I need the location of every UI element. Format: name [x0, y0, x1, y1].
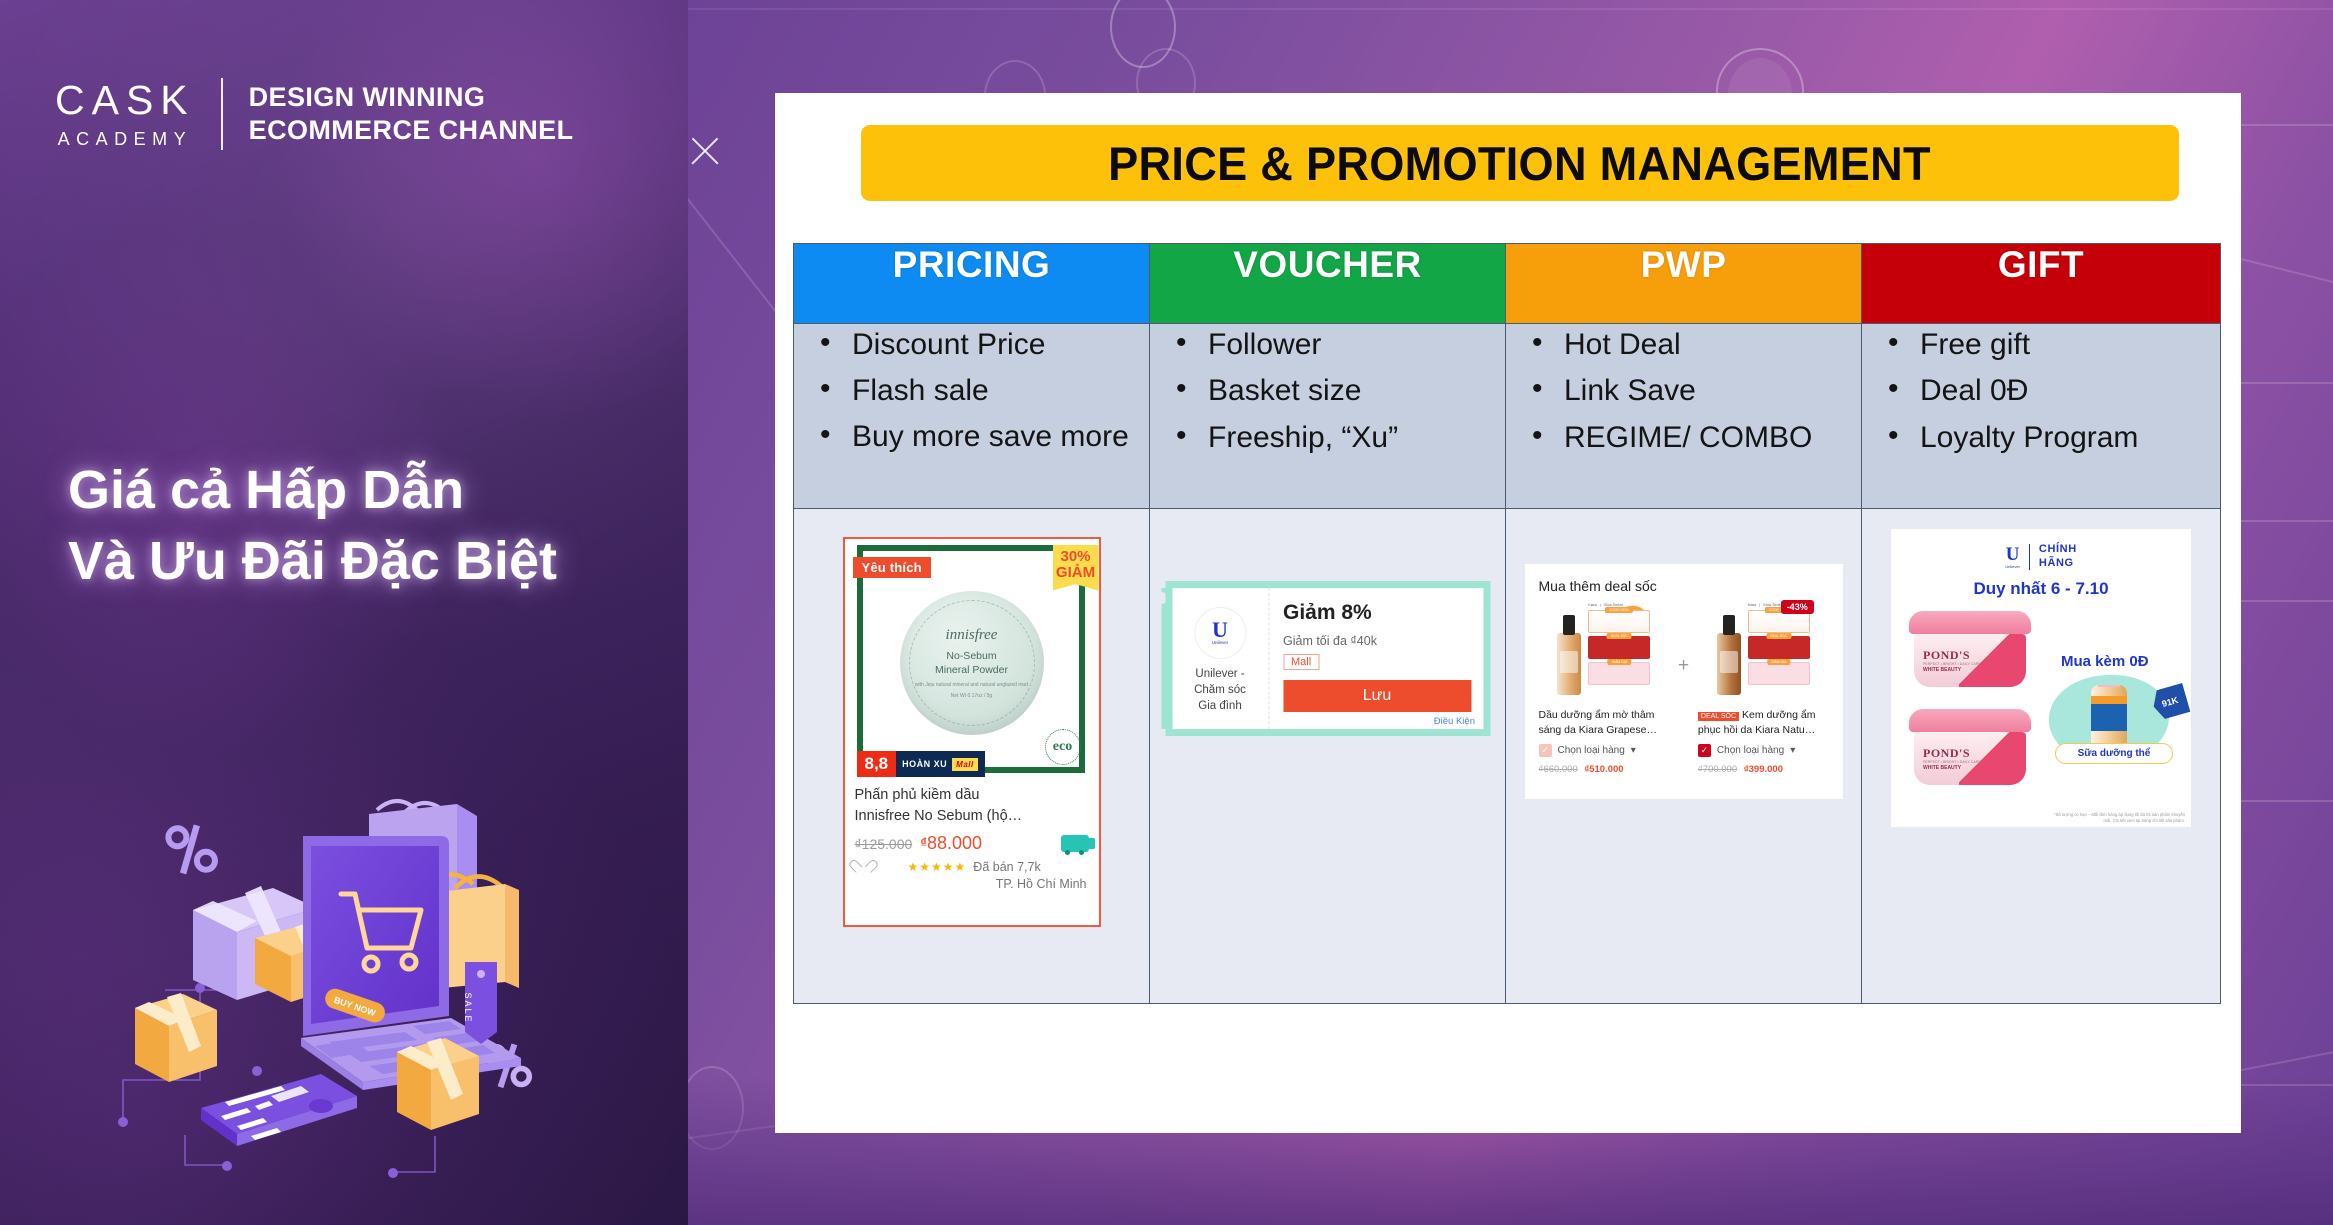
voucher-cap: Giảm tối đa ₫40k — [1283, 634, 1471, 648]
ecommerce-illustration: BUY NOW SALE — [105, 790, 635, 1210]
voucher-details: Giảm 8% Giảm tối đa ₫40k Mall Lưu Điều K… — [1269, 588, 1483, 729]
gift-product-name: Sữa dưỡng thể — [2055, 743, 2173, 764]
table-header-row: PRICING VOUCHER PWP GIFT — [794, 244, 2221, 324]
pwp-title: Mua thêm deal sốc — [1539, 578, 1829, 594]
list-item: Link Save — [1524, 370, 1861, 411]
product-meta-row: ★★★★★ Đã bán 7,7k — [855, 860, 1089, 874]
checkbox-icon[interactable]: ✓ — [1698, 744, 1711, 757]
pwp-poster: Kiara|Glow Series GOOD DEAL DEAL SỐC GIẢ… — [1588, 603, 1650, 695]
package-fine-2: Net Wt 0.17oz / 5g — [951, 693, 992, 699]
list-item: Basket size — [1168, 370, 1505, 411]
fine-print: *Số lượng có hạn – Mỗi đơn hàng áp dụng … — [2045, 812, 2185, 825]
column-header-gift: GIFT — [1862, 244, 2221, 324]
gift-offer-label: Mua kèm 0Đ — [2061, 653, 2149, 670]
decor-line — [688, 8, 2333, 10]
mall-badge: Mall — [952, 758, 978, 771]
brand-tagline: DESIGN WINNING ECOMMERCE CHANNEL — [249, 81, 574, 147]
voucher-card[interactable]: U Unilever Unilever - Chăm sóc Gia đình … — [1165, 581, 1490, 736]
slide-title-banner: PRICE & PROMOTION MANAGEMENT — [861, 125, 2179, 201]
list-item: Flash sale — [812, 370, 1149, 411]
pwp-variant-select[interactable]: ✓ Chọn loại hàng ▾ — [1539, 744, 1670, 757]
product-line: WHITE BEAUTY — [1923, 667, 1961, 674]
product-sub: PERFECT • BRIGHT • DAILY CARE — [1923, 760, 1981, 764]
slide-title: PRICE & PROMOTION MANAGEMENT — [1109, 136, 1932, 191]
price-original: ₫660.000 — [1539, 764, 1578, 775]
price-current: ₫510.000 — [1584, 764, 1623, 775]
ponds-jar-icon: POND'S PERFECT • BRIGHT • DAILY CARE WHI… — [1909, 709, 2031, 785]
package-brand: innisfree — [946, 627, 998, 644]
price-original: ₫700.000 — [1698, 764, 1737, 775]
ponds-jar-icon: POND'S PERFECT • BRIGHT • DAILY CARE WHI… — [1909, 611, 2031, 687]
package-fine-1: with Jeju natural mineral and natural un… — [915, 682, 1028, 689]
list-item: Freeship, “Xu” — [1168, 417, 1505, 458]
close-icon[interactable] — [684, 130, 726, 172]
voucher-conditions-link[interactable]: Điều Kiện — [1434, 716, 1475, 727]
promo-date: Duy nhất 6 - 7.10 — [1891, 579, 2191, 599]
column-header-pricing: PRICING — [794, 244, 1150, 324]
serum-bottle-icon — [1557, 633, 1581, 695]
list-item: Free gift — [1880, 324, 2220, 365]
brand-logo: CASK ACADEMY DESIGN WINNING ECOMMERCE CH… — [55, 78, 573, 150]
tagline-line-1: DESIGN WINNING — [249, 81, 574, 114]
brand-name: CASK — [55, 80, 195, 121]
svg-text:SALE: SALE — [463, 992, 473, 1023]
example-voucher: U Unilever Unilever - Chăm sóc Gia đình … — [1150, 509, 1506, 1004]
score-value: 8,8 — [857, 751, 897, 777]
voucher-brand-section: U Unilever Unilever - Chăm sóc Gia đình — [1172, 588, 1269, 729]
table-bullets-row: Discount Price Flash sale Buy more save … — [794, 324, 2221, 509]
jar-lid — [1909, 709, 2031, 732]
voucher-brand-name: Unilever - Chăm sóc Gia đình — [1194, 666, 1246, 715]
pwp-price-row: ₫660.000 ₫510.000 — [1539, 764, 1670, 775]
brand-subname: ACADEMY — [55, 130, 195, 148]
example-gift: U Unilever CHÍNH HÃNG Duy nhất 6 - 7.10 — [1862, 509, 2221, 1004]
jar-body: POND'S PERFECT • BRIGHT • DAILY CARE WHI… — [1914, 634, 2026, 687]
product-title: Phấn phủ kiềm dầu Innisfree No Sebum (hộ… — [855, 785, 1089, 826]
product-image: Yêu thích 30% GIẢM innisfree No-Sebum Mi… — [845, 539, 1099, 777]
discount-label: GIẢM — [1053, 565, 1099, 581]
rating-stars: ★★★★★ — [908, 860, 967, 874]
cashback-badge: 8,8 HOÀN XU Mall — [857, 751, 985, 777]
pwp-card[interactable]: Mua thêm deal sốc Kiara|Glow Series GOOD… — [1525, 564, 1843, 799]
presentation-slide: PRICE & PROMOTION MANAGEMENT PRICING VOU… — [775, 93, 2241, 1133]
price-original: ₫125.000 — [855, 836, 913, 852]
cashback-strip: HOÀN XU Mall — [896, 751, 985, 777]
cask-wordmark: CASK ACADEMY — [55, 80, 195, 148]
free-gift-section: Mua kèm 0Đ 91K Sữa dưỡng thể — [2039, 653, 2189, 778]
authentic-logo: U Unilever CHÍNH HÃNG — [1891, 543, 2191, 571]
pwp-variant-select[interactable]: ✓ Chọn loại hàng ▾ — [1698, 744, 1829, 757]
header-label: GIFT — [1998, 244, 2084, 285]
unilever-logo-icon: U Unilever — [2005, 545, 2020, 569]
pwp-thumbnail: Kiara|Glow Series GOOD DEAL DEAL SỐC GIẢ… — [1539, 603, 1670, 701]
product-price-row: ₫125.000 ₫88.000 — [855, 833, 1089, 854]
bullets-gift: Free gift Deal 0Đ Loyalty Program — [1862, 324, 2221, 509]
product-sub: PERFECT • BRIGHT • DAILY CARE — [1923, 662, 1981, 666]
header-label: PRICING — [893, 244, 1051, 285]
header-label: VOUCHER — [1233, 244, 1422, 285]
price-current: ₫88.000 — [920, 833, 982, 854]
list-item: Follower — [1168, 324, 1505, 365]
slide-screenshot: CASK ACADEMY DESIGN WINNING ECOMMERCE CH… — [0, 0, 2333, 1225]
product-card[interactable]: Yêu thích 30% GIẢM innisfree No-Sebum Mi… — [843, 537, 1101, 927]
column-header-voucher: VOUCHER — [1150, 244, 1506, 324]
poster-box: GIẢM GIÁ — [1588, 662, 1650, 685]
bullets-pwp: Hot Deal Link Save REGIME/ COMBO — [1506, 324, 1862, 509]
bullets-voucher: Follower Basket size Freeship, “Xu” — [1150, 324, 1506, 509]
poster-box: GIẢM GIÁ — [1748, 662, 1810, 685]
voucher-save-button[interactable]: Lưu — [1283, 680, 1471, 712]
voucher-scallop-edge — [1161, 588, 1172, 729]
pwp-item-name: DEAL SỐCKem dưỡng ẩm phục hồi da Kiara N… — [1698, 708, 1829, 738]
product-brand: POND'S — [1923, 648, 1970, 663]
pwp-items-row: Kiara|Glow Series GOOD DEAL DEAL SỐC GIẢ… — [1539, 603, 1829, 775]
price-current: ₫399.000 — [1744, 764, 1783, 775]
hot-deal-badge: DEAL SỐC — [1698, 712, 1739, 721]
chevron-down-icon: ▾ — [1790, 745, 1795, 756]
gift-card-body: POND'S PERFECT • BRIGHT • DAILY CARE WHI… — [1891, 605, 2191, 823]
bottle-band — [2091, 703, 2127, 731]
product-location: TP. Hồ Chí Minh — [855, 877, 1089, 891]
bullets-pricing: Discount Price Flash sale Buy more save … — [794, 324, 1150, 509]
powder-compact-icon: innisfree No-Sebum Mineral Powder with J… — [900, 591, 1044, 735]
example-pricing: Yêu thích 30% GIẢM innisfree No-Sebum Mi… — [794, 509, 1150, 1004]
discount-pct: 30% — [1053, 549, 1099, 565]
voucher-discount: Giảm 8% — [1283, 601, 1471, 625]
jar-body: POND'S PERFECT • BRIGHT • DAILY CARE WHI… — [1914, 732, 2026, 785]
list-item: Hot Deal — [1524, 324, 1861, 365]
table-images-row: Yêu thích 30% GIẢM innisfree No-Sebum Mi… — [794, 509, 2221, 1004]
pwp-price-row: ₫700.000 ₫399.000 — [1698, 764, 1829, 775]
free-shipping-icon — [1061, 835, 1089, 852]
cashback-label: HOÀN XU — [902, 759, 947, 769]
variant-label: Chọn loại hàng — [1717, 745, 1784, 756]
sold-count: Đã bán 7,7k — [973, 860, 1040, 874]
favorite-badge: Yêu thích — [853, 557, 931, 578]
product-body: Phấn phủ kiềm dầu Innisfree No Sebum (hộ… — [845, 777, 1099, 891]
pwp-thumbnail: -43% Kiara|Glow Series GOOD DEAL DEAL SỐ… — [1698, 603, 1829, 701]
plus-icon: + — [1669, 603, 1698, 677]
serum-bottle-icon — [1717, 633, 1741, 695]
list-item: Discount Price — [812, 324, 1149, 365]
product-brand: POND'S — [1923, 746, 1970, 761]
left-title-panel: CASK ACADEMY DESIGN WINNING ECOMMERCE CH… — [0, 0, 688, 1225]
pwp-item[interactable]: Kiara|Glow Series GOOD DEAL DEAL SỐC GIẢ… — [1539, 603, 1670, 775]
promotion-table: PRICING VOUCHER PWP GIFT Discount Price … — [793, 243, 2221, 1004]
variant-label: Chọn loại hàng — [1558, 745, 1625, 756]
poster-box: DEAL SỐC — [1588, 636, 1650, 659]
checkbox-icon[interactable]: ✓ — [1539, 744, 1552, 757]
product-line: WHITE BEAUTY — [1923, 765, 1961, 772]
headline-line-1: Giá cả Hấp Dẫn — [68, 455, 557, 526]
package-desc: No-Sebum Mineral Powder — [935, 649, 1008, 677]
headline-line-2: Và Ưu Đãi Đặc Biệt — [68, 526, 557, 597]
pwp-item[interactable]: -43% Kiara|Glow Series GOOD DEAL DEAL SỐ… — [1698, 603, 1829, 775]
decor-ring — [680, 1066, 744, 1150]
voucher-mall-badge: Mall — [1283, 654, 1319, 670]
authentic-label: CHÍNH HÃNG — [2039, 543, 2077, 571]
heart-icon[interactable] — [855, 860, 870, 874]
pwp-poster: -43% Kiara|Glow Series GOOD DEAL DEAL SỐ… — [1748, 603, 1810, 695]
logo-divider — [2029, 544, 2030, 570]
tagline-line-2: ECOMMERCE CHANNEL — [249, 114, 574, 147]
page-title: Giá cả Hấp Dẫn Và Ưu Đãi Đặc Biệt — [68, 455, 557, 598]
jar-lid — [1909, 611, 2031, 634]
list-item: REGIME/ COMBO — [1524, 417, 1861, 458]
eco-seal-icon: eco — [1045, 729, 1081, 765]
example-pwp: Mua thêm deal sốc Kiara|Glow Series GOOD… — [1506, 509, 1862, 1004]
header-label: PWP — [1641, 244, 1727, 285]
list-item: Deal 0Đ — [1880, 370, 2220, 411]
pwp-item-name: Dầu dưỡng ẩm mờ thâm sáng da Kiara Grape… — [1539, 708, 1670, 738]
poster-box: DEAL SỐC — [1748, 636, 1810, 659]
list-item: Buy more save more — [812, 417, 1149, 457]
logo-divider — [221, 78, 223, 150]
discount-badge: 30% GIẢM — [1053, 545, 1099, 591]
list-item: Loyalty Program — [1880, 417, 2220, 458]
unilever-logo-icon: U Unilever — [1194, 607, 1246, 659]
poster-box: GOOD DEAL — [1588, 610, 1650, 633]
gift-card[interactable]: U Unilever CHÍNH HÃNG Duy nhất 6 - 7.10 — [1891, 529, 2191, 827]
chevron-down-icon: ▾ — [1631, 745, 1636, 756]
discount-badge: -43% — [1781, 600, 1814, 614]
column-header-pwp: PWP — [1506, 244, 1862, 324]
